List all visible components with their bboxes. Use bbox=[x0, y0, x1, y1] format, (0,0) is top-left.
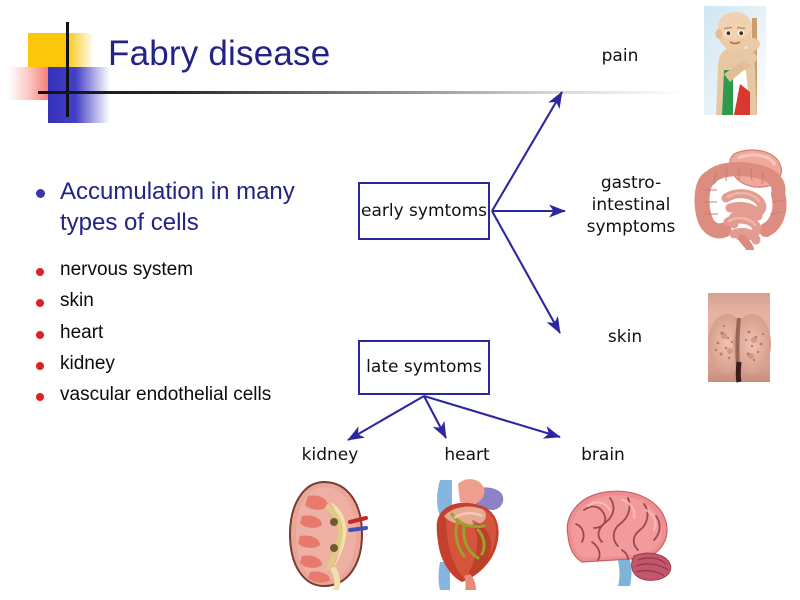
bullet-dot-icon bbox=[36, 362, 44, 370]
brain-illustration bbox=[548, 484, 676, 586]
intestines-illustration bbox=[694, 138, 794, 250]
lead-bullet-dot-icon bbox=[36, 189, 45, 198]
affected-cells-list: nervous system skin heart kidney vascula… bbox=[36, 258, 336, 415]
bullet-dot-icon bbox=[36, 268, 44, 276]
flow-box-early-symtoms[interactable]: early symtoms bbox=[358, 182, 490, 240]
list-item-label: vascular endothelial cells bbox=[60, 383, 271, 407]
bullet-dot-icon bbox=[36, 299, 44, 307]
page-title: Fabry disease bbox=[108, 34, 330, 74]
outcome-label-pain: pain bbox=[565, 45, 675, 67]
kidney-cross-section-illustration bbox=[278, 478, 370, 590]
lead-bullet-label: Accumulation in many types of cells bbox=[60, 176, 316, 238]
bullet-dot-icon bbox=[36, 331, 44, 339]
title-underline-rule bbox=[38, 91, 688, 94]
lead-bullet-block: Accumulation in many types of cells bbox=[36, 176, 316, 238]
decoration-blue-square bbox=[48, 67, 110, 123]
heart-illustration bbox=[418, 472, 514, 590]
list-item: kidney bbox=[36, 352, 336, 376]
list-item: nervous system bbox=[36, 258, 336, 282]
list-item: heart bbox=[36, 321, 336, 345]
list-item-label: nervous system bbox=[60, 258, 193, 282]
list-item-label: kidney bbox=[60, 352, 115, 376]
skin-rash-photo bbox=[704, 288, 774, 383]
outcome-label-gastrointestinal: gastro- intestinal symptoms bbox=[575, 172, 687, 238]
list-item-label: skin bbox=[60, 289, 94, 313]
flow-box-late-symtoms[interactable]: late symtoms bbox=[358, 340, 490, 395]
list-item: vascular endothelial cells bbox=[36, 383, 336, 407]
outcome-label-skin: skin bbox=[570, 326, 680, 348]
outcome-label-kidney: kidney bbox=[275, 444, 385, 466]
lead-bullet-row: Accumulation in many types of cells bbox=[36, 176, 316, 238]
list-item-label: heart bbox=[60, 321, 103, 345]
child-in-pain-illustration bbox=[700, 4, 774, 117]
list-item: skin bbox=[36, 289, 336, 313]
outcome-label-heart: heart bbox=[412, 444, 522, 466]
slide-canvas: Fabry disease Accumulation in many types… bbox=[0, 0, 800, 600]
decoration-vertical-line bbox=[66, 22, 69, 117]
bullet-dot-icon bbox=[36, 393, 44, 401]
outcome-label-brain: brain bbox=[548, 444, 658, 466]
